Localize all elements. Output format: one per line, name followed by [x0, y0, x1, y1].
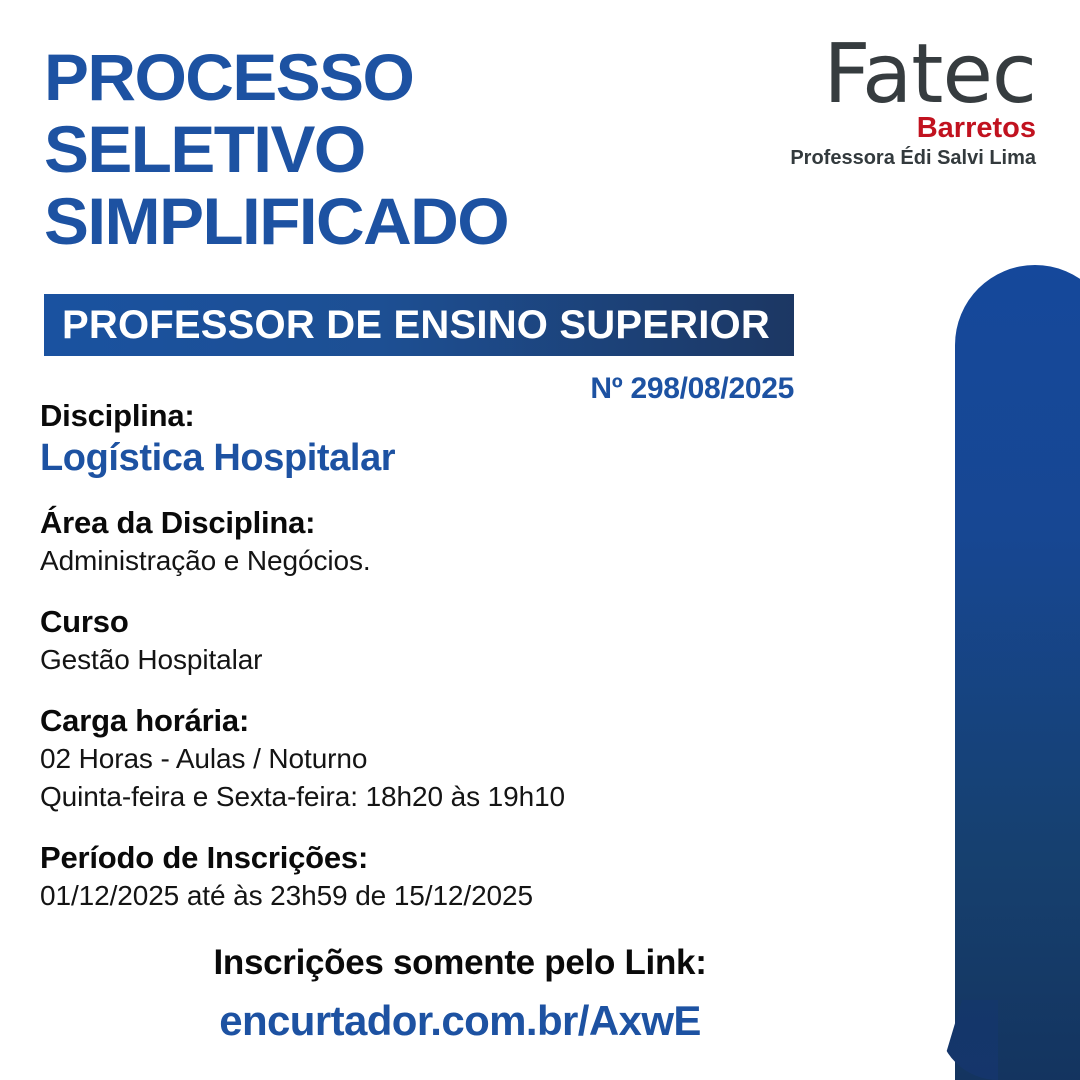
disciplina-value: Logística Hospitalar [40, 435, 920, 481]
headline-line-3: SIMPLIFICADO [44, 188, 508, 254]
page-title: PROCESSO SELETIVO SIMPLIFICADO [44, 44, 499, 260]
poster-canvas: PROCESSO SELETIVO SIMPLIFICADO Fatec Bar… [0, 0, 1080, 1080]
carga-horaria-value-1: 02 Horas - Aulas / Noturno [40, 740, 920, 778]
field-area: Área da Disciplina: Administração e Negó… [40, 503, 920, 580]
carga-horaria-label: Carga horária: [40, 701, 920, 740]
field-carga-horaria: Carga horária: 02 Horas - Aulas / Noturn… [40, 701, 920, 816]
field-curso: Curso Gestão Hospitalar [40, 602, 920, 679]
carga-horaria-value-2: Quinta-feira e Sexta-feira: 18h20 às 19h… [40, 778, 920, 816]
curso-label: Curso [40, 602, 920, 641]
headline-line-1: PROCESSO [44, 44, 508, 110]
registration-link[interactable]: encurtador.com.br/AxwE [0, 992, 920, 1050]
field-periodo-inscricoes: Período de Inscrições: 01/12/2025 até às… [40, 838, 920, 915]
curso-value: Gestão Hospitalar [40, 641, 920, 679]
disciplina-label: Disciplina: [40, 396, 920, 435]
logo-patron-text: Professora Édi Salvi Lima [790, 146, 1036, 170]
footer-label: Inscrições somente pelo Link: [0, 940, 920, 986]
fatec-logo: Fatec Barretos Professora Édi Salvi Lima [790, 34, 1036, 170]
details-list: Disciplina: Logística Hospitalar Área da… [40, 396, 920, 937]
headline-line-2: SELETIVO [44, 116, 508, 182]
decorative-blue-shape [955, 265, 1080, 1080]
field-disciplina: Disciplina: Logística Hospitalar [40, 396, 920, 481]
role-banner: PROFESSOR DE ENSINO SUPERIOR [44, 294, 794, 356]
area-label: Área da Disciplina: [40, 503, 920, 542]
role-banner-title: PROFESSOR DE ENSINO SUPERIOR [44, 303, 770, 348]
decorative-blue-shape-foot [938, 1000, 998, 1080]
periodo-value: 01/12/2025 até às 23h59 de 15/12/2025 [40, 877, 920, 915]
footer-cta: Inscrições somente pelo Link: encurtador… [0, 940, 920, 1050]
logo-brand-text: Fatec [790, 34, 1036, 116]
periodo-label: Período de Inscrições: [40, 838, 920, 877]
area-value: Administração e Negócios. [40, 542, 920, 580]
